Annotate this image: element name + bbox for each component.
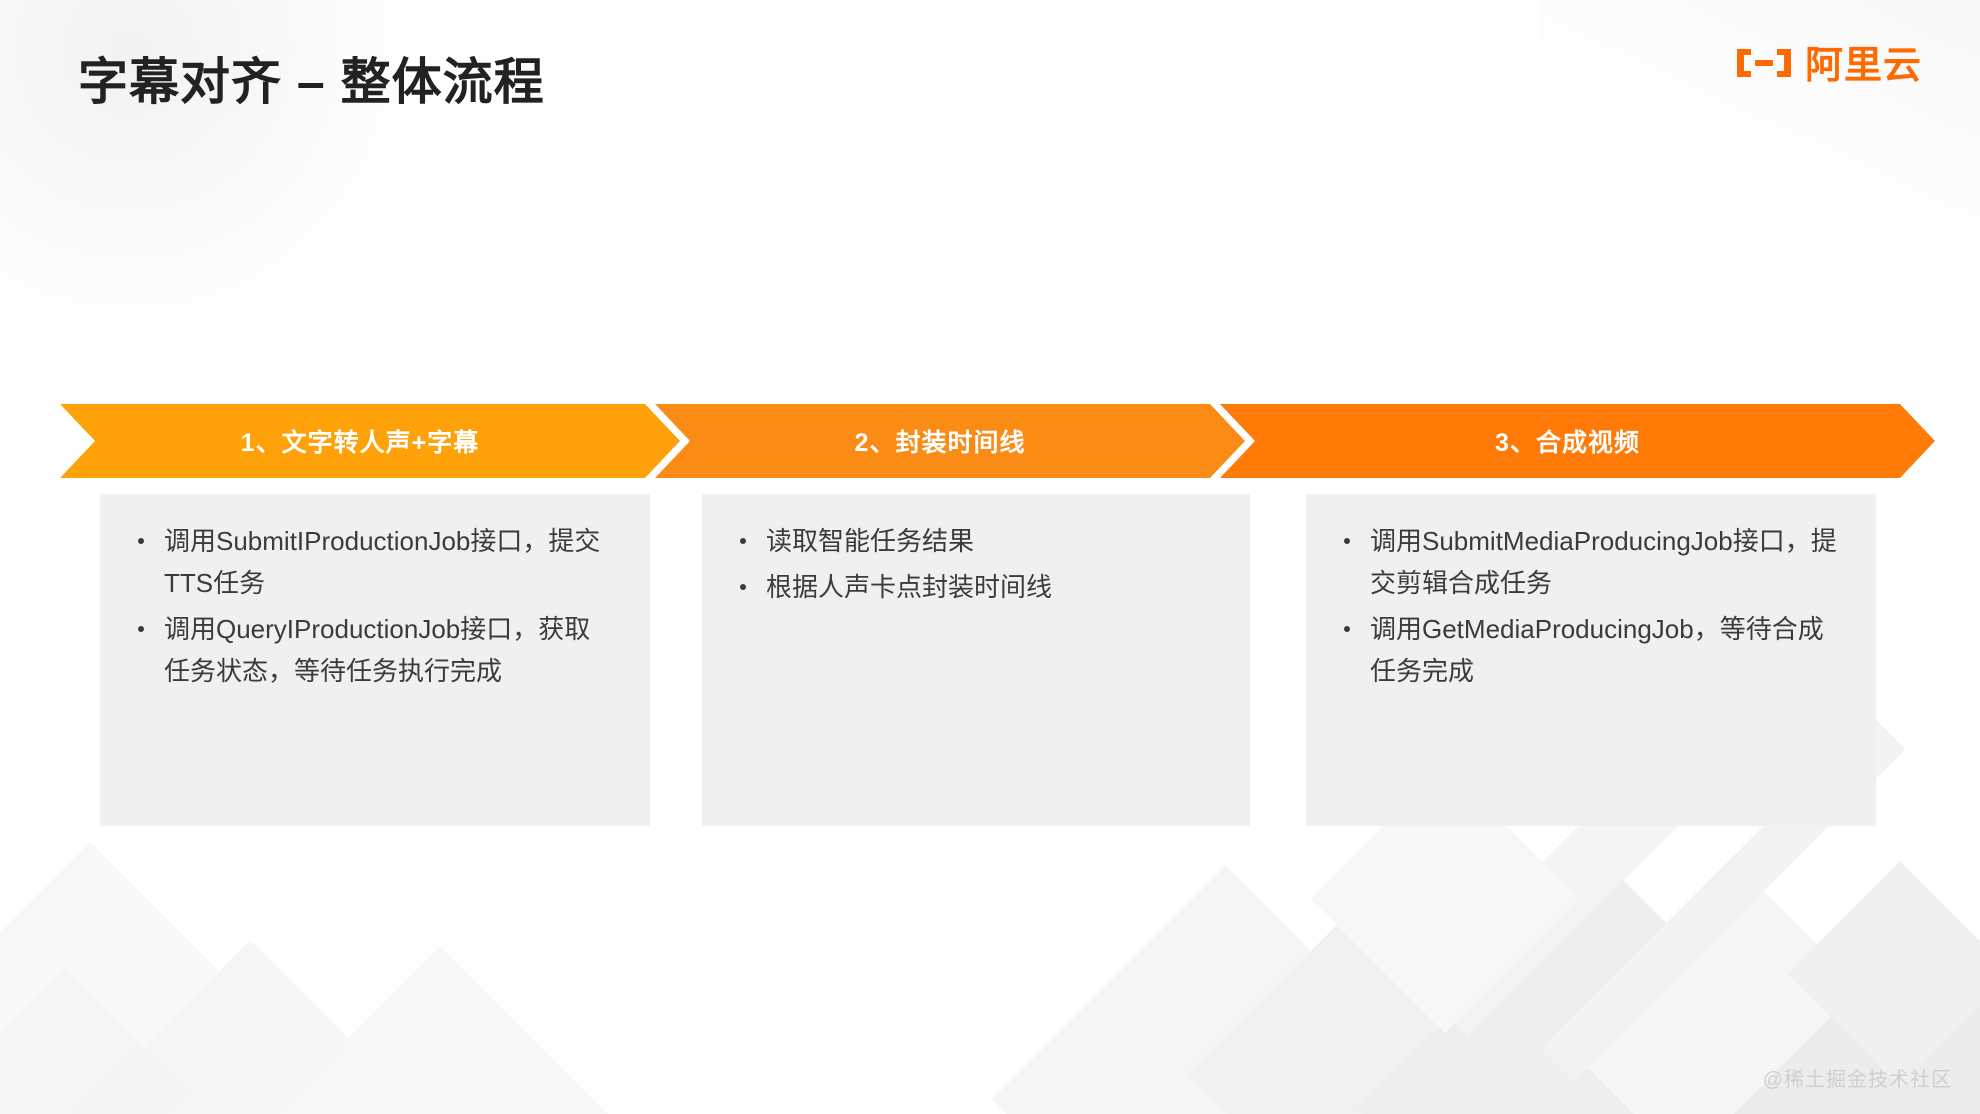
slide-canvas: 字幕对齐 – 整体流程 阿里云 1、文字转人声+字幕 2、封装时间线 3、合成视… bbox=[0, 0, 1980, 1114]
bullet-dot-icon bbox=[740, 538, 746, 544]
background-shape bbox=[992, 866, 1459, 1114]
bullet-dot-icon bbox=[138, 538, 144, 544]
process-step-card-3: 调用SubmitMediaProducingJob接口，提交剪辑合成任务 调用G… bbox=[1306, 494, 1876, 826]
alibaba-cloud-bracket-icon bbox=[1733, 46, 1795, 85]
list-item: 调用SubmitIProductionJob接口，提交TTS任务 bbox=[134, 520, 616, 604]
list-item: 调用QueryIProductionJob接口，获取任务状态，等待任务执行完成 bbox=[134, 608, 616, 692]
bullet-text: 根据人声卡点封装时间线 bbox=[766, 572, 1052, 602]
bullet-dot-icon bbox=[1344, 538, 1350, 544]
bullet-dot-icon bbox=[138, 626, 144, 632]
process-step-card-2: 读取智能任务结果 根据人声卡点封装时间线 bbox=[702, 494, 1250, 826]
process-chevron-band: 1、文字转人声+字幕 2、封装时间线 3、合成视频 bbox=[60, 404, 1935, 478]
page-title: 字幕对齐 – 整体流程 bbox=[78, 42, 545, 114]
bullet-text: 调用GetMediaProducingJob，等待合成任务完成 bbox=[1370, 614, 1824, 686]
bullet-text: 调用SubmitMediaProducingJob接口，提交剪辑合成任务 bbox=[1370, 526, 1837, 598]
brand-logo: 阿里云 bbox=[1733, 46, 1922, 85]
bullet-text: 调用QueryIProductionJob接口，获取任务状态，等待任务执行完成 bbox=[164, 614, 590, 686]
list-item: 调用GetMediaProducingJob，等待合成任务完成 bbox=[1340, 608, 1842, 692]
bullet-list-1: 调用SubmitIProductionJob接口，提交TTS任务 调用Query… bbox=[134, 520, 616, 692]
bullet-dot-icon bbox=[740, 584, 746, 590]
background-shape bbox=[1188, 862, 1612, 1114]
watermark: @稀土掘金技术社区 bbox=[1763, 1063, 1952, 1092]
background-shape bbox=[242, 946, 638, 1114]
background-shape bbox=[66, 940, 434, 1114]
process-step-chevron-1[interactable]: 1、文字转人声+字幕 bbox=[60, 404, 680, 478]
background-shape bbox=[0, 842, 302, 1114]
bullet-text: 调用SubmitIProductionJob接口，提交TTS任务 bbox=[164, 526, 600, 598]
background-shape bbox=[0, 969, 185, 1114]
process-step-card-1: 调用SubmitIProductionJob接口，提交TTS任务 调用Query… bbox=[100, 494, 650, 826]
brand-logo-text: 阿里云 bbox=[1805, 47, 1922, 85]
bullet-dot-icon bbox=[1344, 626, 1350, 632]
bullet-list-3: 调用SubmitMediaProducingJob接口，提交剪辑合成任务 调用G… bbox=[1340, 520, 1842, 692]
process-step-label-1: 1、文字转人声+字幕 bbox=[241, 423, 480, 459]
list-item: 根据人声卡点封装时间线 bbox=[736, 566, 1216, 608]
bullet-list-2: 读取智能任务结果 根据人声卡点封装时间线 bbox=[736, 520, 1216, 608]
background-shape bbox=[1787, 861, 1980, 1087]
process-step-label-3: 3、合成视频 bbox=[1495, 423, 1640, 459]
list-item: 调用SubmitMediaProducingJob接口，提交剪辑合成任务 bbox=[1340, 520, 1842, 604]
process-step-chevron-2[interactable]: 2、封装时间线 bbox=[655, 404, 1245, 478]
bullet-text: 读取智能任务结果 bbox=[766, 526, 974, 556]
process-step-label-2: 2、封装时间线 bbox=[855, 423, 1026, 459]
process-step-chevron-3[interactable]: 3、合成视频 bbox=[1220, 404, 1935, 478]
list-item: 读取智能任务结果 bbox=[736, 520, 1216, 562]
